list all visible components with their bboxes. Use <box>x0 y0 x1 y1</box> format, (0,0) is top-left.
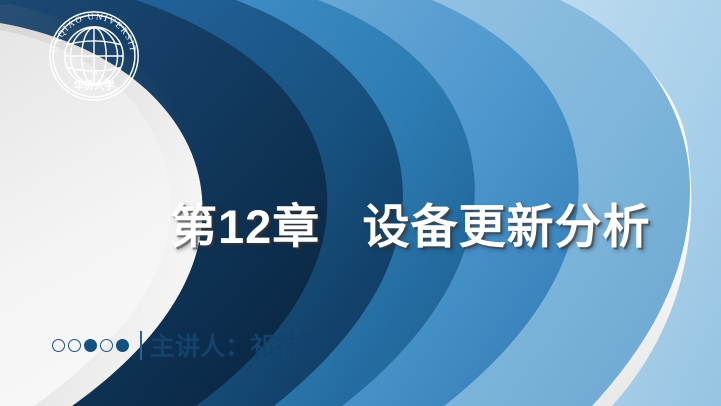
slide-title: 第12章 设备更新分析 <box>170 198 650 257</box>
slide-footer: 主讲人：祁神军 <box>52 327 325 363</box>
university-seal-icon: HUAQIAO UNIVERSITY 1960 华侨大学 <box>47 9 141 103</box>
progress-dot-1 <box>52 339 65 352</box>
progress-dot-5 <box>116 339 129 352</box>
seal-chinese-text: 华侨大学 <box>73 79 114 92</box>
seal-year-text: 1960 <box>90 71 99 76</box>
progress-dot-2 <box>68 339 81 352</box>
progress-dot-4 <box>100 339 113 352</box>
footer-divider <box>140 331 142 360</box>
progress-dots <box>52 339 129 352</box>
presentation-slide: HUAQIAO UNIVERSITY 1960 华侨大学 第12章 设备更新分析… <box>0 0 721 406</box>
presenter-name: 主讲人：祁神军 <box>150 327 325 363</box>
seal-outer-text: HUAQIAO UNIVERSITY <box>47 9 139 54</box>
progress-dot-3 <box>84 339 97 352</box>
huaqiao-university-logo: HUAQIAO UNIVERSITY 1960 华侨大学 <box>47 9 141 103</box>
